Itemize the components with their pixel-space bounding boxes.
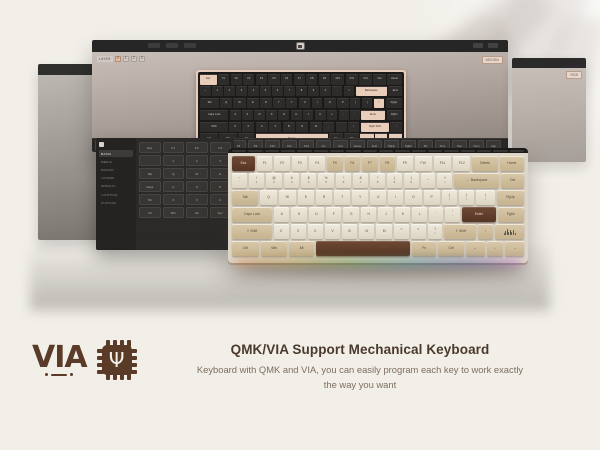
virtual-key-6[interactable]: 6 bbox=[272, 86, 283, 97]
key-legend: F7 bbox=[368, 162, 372, 166]
key-space[interactable]: ^6 bbox=[336, 173, 351, 188]
via-grid-key-caps[interactable]: Caps bbox=[139, 181, 161, 192]
virtual-key-i[interactable]: I bbox=[312, 98, 323, 109]
key-legend: Caps Lock bbox=[244, 213, 260, 217]
via-grid-key-z[interactable]: Z bbox=[163, 194, 185, 205]
via-sidebar-items: BASICMEDIAMACROLAYERSSPECIALLIGHTINGCUST… bbox=[99, 150, 133, 206]
virtual-key-esc[interactable]: Esc bbox=[200, 74, 217, 85]
keyboard-drop-shadow bbox=[238, 259, 518, 275]
via-grid-key-a[interactable]: A bbox=[163, 181, 185, 192]
main-window-badge: DESIGN bbox=[482, 56, 503, 64]
virtual-key-0[interactable]: 0 bbox=[320, 86, 331, 97]
qmk-psi-glyph: Ψ bbox=[109, 350, 125, 370]
key-f5[interactable]: F5 bbox=[327, 156, 343, 171]
key-shift[interactable]: ⇧ Shift bbox=[232, 224, 272, 239]
key-f2[interactable]: F2 bbox=[274, 156, 290, 171]
virtual-key-f2[interactable]: F2 bbox=[231, 74, 242, 85]
key-legend: G bbox=[350, 213, 353, 217]
key-legend: W bbox=[286, 196, 289, 200]
key-legend: ^6 bbox=[343, 177, 345, 185]
keyboard-top-strip bbox=[228, 148, 528, 153]
virtual-key-4[interactable]: 4 bbox=[248, 86, 259, 97]
via-grid-key-tab[interactable]: Tab bbox=[139, 168, 161, 179]
key-legend: F10 bbox=[420, 162, 426, 166]
layer-chip-3[interactable]: 3 bbox=[139, 56, 145, 62]
key-p[interactable]: P bbox=[424, 190, 440, 205]
via-sidebar-header bbox=[99, 142, 133, 147]
key-t[interactable]: T bbox=[334, 190, 350, 205]
key-legend: V bbox=[331, 230, 333, 234]
front-monitor: BASICMEDIAMACROLAYERSSPECIALLIGHTINGCUST… bbox=[96, 138, 234, 250]
virtual-key-b[interactable]: B bbox=[283, 122, 295, 133]
via-sidebar-item-special[interactable]: SPECIAL bbox=[99, 183, 133, 190]
via-grid-key-ctl[interactable]: Ctl bbox=[139, 207, 161, 218]
key-legend: }] bbox=[466, 194, 467, 202]
virtual-key-caps-lock[interactable]: Caps Lock bbox=[200, 110, 228, 121]
key-space[interactable]: |\ bbox=[476, 190, 495, 205]
layer-label: LAYER bbox=[97, 56, 113, 62]
key-legend: F2 bbox=[280, 162, 284, 166]
key-legend: A bbox=[281, 213, 283, 217]
key-legend: $4 bbox=[308, 177, 310, 185]
key-legend: D bbox=[315, 213, 317, 217]
key-legend: Q bbox=[267, 196, 270, 200]
virtual-key-pgdn[interactable]: PgDn bbox=[387, 110, 403, 121]
key-d[interactable]: D bbox=[309, 207, 324, 222]
key-f7[interactable]: F7 bbox=[362, 156, 378, 171]
key-ctrl[interactable]: Ctrl bbox=[232, 241, 259, 256]
key-ctrl[interactable]: Ctrl bbox=[438, 241, 464, 256]
app-window-icon bbox=[296, 42, 305, 50]
key-space[interactable]: %5 bbox=[318, 173, 334, 188]
key-legend: B bbox=[348, 230, 350, 234]
key-legend: F9 bbox=[403, 162, 407, 166]
key-esc[interactable]: Esc bbox=[232, 156, 255, 171]
key-legend: Delete bbox=[480, 162, 490, 166]
via-logo-text: VIA bbox=[32, 344, 87, 371]
key-space[interactable]: :; bbox=[429, 207, 443, 222]
virtual-key-1[interactable]: 1 bbox=[212, 86, 223, 97]
virtual-key-[interactable]: / bbox=[348, 122, 359, 133]
key-space[interactable]: += bbox=[437, 173, 452, 188]
via-grid-key-1[interactable]: 1 bbox=[163, 155, 185, 166]
key-a[interactable]: A bbox=[274, 207, 289, 222]
virtual-key-end[interactable]: End bbox=[388, 86, 402, 97]
virtual-key-right-shift[interactable]: Right Shift bbox=[361, 122, 389, 133]
key-legend: &7 bbox=[359, 177, 361, 185]
key-space[interactable]: → bbox=[505, 241, 524, 256]
key-legend: Esc bbox=[241, 162, 247, 166]
chip-body: Ψ bbox=[102, 345, 132, 375]
virtual-key-k[interactable]: K bbox=[315, 110, 326, 121]
key-legend: Del bbox=[510, 179, 515, 183]
virtual-keyboard-preview[interactable]: EscF1F2F3F4F5F6F7F8F9F10F11F12DelHome~12… bbox=[196, 70, 406, 148]
key-e[interactable]: E bbox=[298, 190, 314, 205]
key-legend: L bbox=[419, 213, 421, 217]
key-f8[interactable]: F8 bbox=[380, 156, 396, 171]
key-legend: F4 bbox=[315, 162, 319, 166]
main-monitor-screen: LAYER 0 1 2 3 DESIGN EscF1F2F3F4F5F6F7F8… bbox=[92, 52, 508, 152]
key-legend: F11 bbox=[440, 162, 446, 166]
via-sidebar-item-basic[interactable]: BASIC bbox=[99, 150, 133, 157]
caption-text: QMK/VIA Support Mechanical Keyboard Keyb… bbox=[140, 342, 580, 392]
key-legend: Home bbox=[507, 162, 516, 166]
main-monitor-titlebar bbox=[92, 40, 508, 52]
key-f4[interactable]: F4 bbox=[309, 156, 325, 171]
qmk-chip-icon: Ψ bbox=[97, 340, 137, 380]
key-x[interactable]: X bbox=[291, 224, 306, 239]
key-legend: Ctrl bbox=[449, 247, 454, 251]
via-grid-key-x[interactable]: X bbox=[186, 194, 208, 205]
virtual-key-e[interactable]: E bbox=[247, 98, 259, 109]
via-grid-key-alt[interactable]: Alt bbox=[186, 207, 208, 218]
via-sidebar-item-layers[interactable]: LAYERS bbox=[99, 175, 133, 182]
virtual-key-9[interactable]: 9 bbox=[308, 86, 319, 97]
key-legend: %5 bbox=[325, 177, 328, 185]
key-enter[interactable]: Enter bbox=[462, 207, 496, 222]
key-space[interactable]: <, bbox=[394, 224, 409, 239]
virtual-key-[interactable]: ; bbox=[339, 110, 349, 121]
key-space[interactable]: }] bbox=[459, 190, 474, 205]
virtual-key-j[interactable]: J bbox=[303, 110, 313, 121]
key-legend: M bbox=[383, 230, 386, 234]
virtual-key-[interactable]: . bbox=[336, 122, 347, 133]
virtual-key-[interactable]: [ bbox=[350, 98, 361, 109]
virtual-key-[interactable]: - bbox=[332, 86, 342, 97]
virtual-key-[interactable]: \ bbox=[374, 98, 385, 109]
layer-selector[interactable]: LAYER 0 1 2 3 bbox=[97, 56, 145, 62]
virtual-key-backspace[interactable]: Backspace bbox=[356, 86, 387, 97]
key-pgup[interactable]: PgUp bbox=[497, 190, 524, 205]
virtual-key-shift[interactable]: Shift bbox=[200, 122, 228, 133]
virtual-keyboard-row: ~1234567890-=BackspaceEnd bbox=[200, 86, 402, 97]
key-space[interactable]: {[ bbox=[442, 190, 457, 205]
key-win[interactable]: Win bbox=[261, 241, 287, 256]
virtual-key-s[interactable]: S bbox=[242, 110, 253, 121]
key-legend: F8 bbox=[385, 162, 389, 166]
key-legend: {[ bbox=[449, 194, 450, 202]
logo-group: VIA Ψ bbox=[32, 340, 137, 380]
titlebar-menu-items bbox=[148, 43, 196, 48]
key-n[interactable]: N bbox=[359, 224, 374, 239]
key-legend: ⇧ Shift bbox=[455, 230, 466, 234]
key-legend: ← Backspace bbox=[466, 179, 487, 183]
via-grid-key-2[interactable]: 2 bbox=[186, 155, 208, 166]
key-legend: ⇧ Shift bbox=[247, 230, 258, 234]
virtual-key-f[interactable]: F bbox=[266, 110, 277, 121]
key-legend: O bbox=[412, 196, 415, 200]
key-r[interactable]: R bbox=[316, 190, 332, 205]
keyboard-row: ⇧ ShiftZXCVBNM<,>.?/⇧ Shift↑ bbox=[232, 224, 524, 239]
key-f6[interactable]: F6 bbox=[345, 156, 361, 171]
key-k[interactable]: K bbox=[395, 207, 410, 222]
key-space[interactable]: !1 bbox=[249, 173, 264, 188]
keyboard-row: Caps LockASDFGHJKL:;"'EnterPgDn bbox=[232, 207, 524, 222]
key-legend: PgDn bbox=[507, 213, 515, 217]
virtual-key-f6[interactable]: F6 bbox=[281, 74, 292, 85]
key-legend: F12 bbox=[459, 162, 465, 166]
key-f10[interactable]: F10 bbox=[415, 156, 432, 171]
via-key-grid[interactable]: EscF1F2F3`123TabQWECapsASDSftZXCCtlWinAl… bbox=[136, 138, 234, 250]
key-caps-lock[interactable]: Caps Lock bbox=[232, 207, 272, 222]
key-legend: _- bbox=[427, 177, 429, 185]
virtual-key-t[interactable]: T bbox=[273, 98, 284, 109]
key-u[interactable]: U bbox=[370, 190, 386, 205]
key-wave[interactable] bbox=[495, 224, 524, 239]
via-grid-key-q[interactable]: Q bbox=[163, 168, 185, 179]
via-grid-key-w[interactable]: W bbox=[186, 168, 208, 179]
key-shift[interactable]: ⇧ Shift bbox=[444, 224, 476, 239]
key-home[interactable]: Home bbox=[500, 156, 524, 171]
key-legend: += bbox=[444, 177, 446, 185]
caption-subtitle: Keyboard with QMK and VIA, you can easil… bbox=[195, 363, 525, 392]
virtual-key-c[interactable]: C bbox=[256, 122, 268, 133]
key-f9[interactable]: F9 bbox=[397, 156, 413, 171]
virtual-key-[interactable]: , bbox=[323, 122, 334, 133]
key-tab[interactable]: Tab bbox=[232, 190, 258, 205]
virtual-key-f11[interactable]: F11 bbox=[346, 74, 358, 85]
key-legend: Tab bbox=[242, 196, 247, 200]
keyboard-row: TabQWERTYUIOP{[}]|\PgUp bbox=[232, 190, 524, 205]
via-sidebar-item-lighting[interactable]: LIGHTING bbox=[99, 191, 133, 198]
key-legend: (9 bbox=[394, 177, 396, 185]
caption-block: VIA Ψ QMK/VIA Support Mechanical Keyboar… bbox=[0, 330, 600, 450]
keyboard-row: ~`!1@2#3$4%5^6&7*8(9)0_-+=← BackspaceDel bbox=[232, 173, 524, 188]
key-l[interactable]: L bbox=[412, 207, 427, 222]
virtual-key-5[interactable]: 5 bbox=[260, 86, 271, 97]
via-logo-underline bbox=[45, 373, 73, 376]
key-legend: @2 bbox=[272, 177, 275, 185]
key-legend: J bbox=[385, 213, 387, 217]
virtual-key-[interactable]: ~ bbox=[200, 86, 211, 97]
virtual-key-h[interactable]: H bbox=[291, 110, 302, 121]
via-grid-key-sft[interactable]: Sft bbox=[139, 194, 161, 205]
caption-title: QMK/VIA Support Mechanical Keyboard bbox=[140, 342, 580, 357]
keyboard-row: CtrlWinAltFnCtrl←↓→ bbox=[232, 241, 524, 256]
sound-wave-icon bbox=[504, 229, 516, 235]
virtual-key-f8[interactable]: F8 bbox=[306, 74, 317, 85]
layer-chip-0[interactable]: 0 bbox=[115, 56, 121, 62]
virtual-key-[interactable]: = bbox=[344, 86, 355, 97]
key-space[interactable]: ~` bbox=[232, 173, 247, 188]
virtual-key-f9[interactable]: F9 bbox=[319, 74, 330, 85]
key-f3[interactable]: F3 bbox=[292, 156, 308, 171]
key-legend: N bbox=[366, 230, 368, 234]
key-m[interactable]: M bbox=[376, 224, 392, 239]
key-legend: ↓ bbox=[494, 247, 496, 251]
key-legend: R bbox=[323, 196, 325, 200]
key-delete[interactable]: Delete bbox=[472, 156, 497, 171]
key-o[interactable]: O bbox=[405, 190, 421, 205]
key-del[interactable]: Del bbox=[501, 173, 524, 188]
via-sidebar-item-custom[interactable]: CUSTOM bbox=[99, 199, 133, 206]
layer-chip-2[interactable]: 2 bbox=[131, 56, 137, 62]
key-legend: Y bbox=[359, 196, 361, 200]
key-legend: !1 bbox=[256, 177, 258, 185]
via-grid-key--[interactable]: ` bbox=[139, 155, 161, 166]
virtual-keyboard-row: Caps LockASDFGHJKL;'EnterPgDn bbox=[200, 110, 402, 121]
key-q[interactable]: Q bbox=[260, 190, 276, 205]
key-z[interactable]: Z bbox=[274, 224, 289, 239]
key-legend: #3 bbox=[291, 177, 293, 185]
key-alt[interactable]: Alt bbox=[289, 241, 313, 256]
virtual-key-f4[interactable]: F4 bbox=[256, 74, 267, 85]
key-w[interactable]: W bbox=[279, 190, 296, 205]
key-legend: F3 bbox=[298, 162, 302, 166]
key-space[interactable]: >. bbox=[411, 224, 426, 239]
key-v[interactable]: V bbox=[325, 224, 340, 239]
key-space[interactable]: )0 bbox=[404, 173, 419, 188]
virtual-key-f12[interactable]: F12 bbox=[359, 74, 372, 85]
virtual-key-m[interactable]: M bbox=[310, 122, 322, 133]
virtual-key-tab[interactable]: Tab bbox=[200, 98, 219, 109]
titlebar-window-controls[interactable] bbox=[473, 43, 498, 48]
key-i[interactable]: I bbox=[388, 190, 403, 205]
key-space[interactable]: (9 bbox=[387, 173, 402, 188]
key-legend: → bbox=[513, 247, 516, 251]
key-space[interactable]: &7 bbox=[353, 173, 368, 188]
virtual-key-y[interactable]: Y bbox=[286, 98, 298, 109]
key-legend: |\ bbox=[485, 194, 486, 202]
via-grid-key-esc[interactable]: Esc bbox=[139, 142, 161, 153]
key-space[interactable] bbox=[316, 241, 410, 256]
key-legend: F1 bbox=[263, 162, 267, 166]
key-space[interactable]: @2 bbox=[266, 173, 282, 188]
virtual-key-[interactable]: ' bbox=[350, 110, 360, 121]
mechanical-keyboard[interactable]: EscF1F2F3F4F5F6F7F8F9F10F11F12DeleteHome… bbox=[228, 148, 528, 263]
key-pgdn[interactable]: PgDn bbox=[498, 207, 524, 222]
key-legend: Z bbox=[280, 230, 282, 234]
main-monitor: LAYER 0 1 2 3 DESIGN EscF1F2F3F4F5F6F7F8… bbox=[92, 40, 508, 152]
key-space[interactable]: ↑ bbox=[478, 224, 493, 239]
key-space[interactable]: ?/ bbox=[428, 224, 443, 239]
key-legend: ?/ bbox=[434, 228, 436, 236]
key-space[interactable]: ↓ bbox=[487, 241, 504, 256]
key-legend: H bbox=[367, 213, 369, 217]
key-legend: X bbox=[297, 230, 299, 234]
via-grid-key-win[interactable]: Win bbox=[163, 207, 185, 218]
key-h[interactable]: H bbox=[361, 207, 376, 222]
key-legend: U bbox=[377, 196, 379, 200]
virtual-key-3[interactable]: 3 bbox=[236, 86, 247, 97]
key-s[interactable]: S bbox=[291, 207, 306, 222]
virtual-key-g[interactable]: G bbox=[278, 110, 289, 121]
keyboard-rows: EscF1F2F3F4F5F6F7F8F9F10F11F12DeleteHome… bbox=[232, 156, 524, 256]
virtual-key-u[interactable]: U bbox=[299, 98, 311, 109]
key-fn[interactable]: Fn bbox=[412, 241, 436, 256]
right-window-badge: RGB bbox=[566, 71, 582, 79]
via-sidebar-item-macro[interactable]: MACRO bbox=[99, 166, 133, 173]
key-space[interactable]: ← bbox=[466, 241, 485, 256]
key-legend: )0 bbox=[410, 177, 412, 185]
virtual-keyboard-rows: EscF1F2F3F4F5F6F7F8F9F10F11F12DelHome~12… bbox=[198, 72, 404, 146]
key-legend: F5 bbox=[333, 162, 337, 166]
key-legend: S bbox=[298, 213, 300, 217]
via-sidebar-item-media[interactable]: MEDIA bbox=[99, 158, 133, 165]
virtual-keyboard-row: ShiftZXCVBNM,./Right Shift↑ bbox=[200, 122, 402, 133]
virtual-key-f5[interactable]: F5 bbox=[268, 74, 279, 85]
virtual-key-7[interactable]: 7 bbox=[284, 86, 295, 97]
key-space[interactable]: $4 bbox=[301, 173, 316, 188]
key-f[interactable]: F bbox=[326, 207, 341, 222]
key-c[interactable]: C bbox=[308, 224, 323, 239]
key-space[interactable]: #3 bbox=[284, 173, 299, 188]
key-legend: C bbox=[314, 230, 316, 234]
via-logo-icon bbox=[99, 142, 104, 147]
virtual-key-[interactable]: ↑ bbox=[390, 122, 402, 133]
via-sidebar[interactable]: BASICMEDIAMACROLAYERSSPECIALLIGHTINGCUST… bbox=[96, 138, 136, 250]
via-grid-key-f1[interactable]: F1 bbox=[163, 142, 185, 153]
key-f11[interactable]: F11 bbox=[434, 156, 451, 171]
via-grid-key-f2[interactable]: F2 bbox=[186, 142, 208, 153]
virtual-key-f10[interactable]: F10 bbox=[331, 74, 344, 85]
key-f12[interactable]: F12 bbox=[453, 156, 470, 171]
virtual-key-f7[interactable]: F7 bbox=[294, 74, 305, 85]
key-legend: I bbox=[395, 196, 396, 200]
virtual-key-q[interactable]: Q bbox=[220, 98, 232, 109]
virtual-key-l[interactable]: L bbox=[327, 110, 337, 121]
key-legend: >. bbox=[417, 228, 419, 236]
key-legend: Enter bbox=[475, 213, 483, 217]
key-j[interactable]: J bbox=[378, 207, 393, 222]
virtual-key-a[interactable]: A bbox=[230, 110, 241, 121]
virtual-key-2[interactable]: 2 bbox=[224, 86, 235, 97]
virtual-key-p[interactable]: P bbox=[337, 98, 349, 109]
key-space[interactable]: "' bbox=[445, 207, 459, 222]
right-monitor-titlebar bbox=[512, 58, 586, 68]
key-legend: PgUp bbox=[506, 196, 514, 200]
keyboard-row: EscF1F2F3F4F5F6F7F8F9F10F11F12DeleteHome bbox=[232, 156, 524, 171]
key-legend: Fn bbox=[422, 247, 426, 251]
key-y[interactable]: Y bbox=[352, 190, 368, 205]
virtual-key-d[interactable]: D bbox=[254, 110, 265, 121]
key-f1[interactable]: F1 bbox=[257, 156, 273, 171]
virtual-key-del[interactable]: Del bbox=[373, 74, 385, 85]
key-b[interactable]: B bbox=[342, 224, 357, 239]
virtual-key-f3[interactable]: F3 bbox=[243, 74, 254, 85]
virtual-key-o[interactable]: O bbox=[324, 98, 336, 109]
key-backspace[interactable]: ← Backspace bbox=[454, 173, 499, 188]
virtual-key-pgup[interactable]: PgUp bbox=[386, 98, 402, 109]
virtual-key-r[interactable]: R bbox=[260, 98, 272, 109]
virtual-key-8[interactable]: 8 bbox=[296, 86, 307, 97]
via-logo: VIA bbox=[32, 344, 87, 376]
virtual-key-z[interactable]: Z bbox=[229, 122, 241, 133]
key-legend: P bbox=[431, 196, 433, 200]
virtual-key-v[interactable]: V bbox=[269, 122, 281, 133]
key-legend: Ctrl bbox=[243, 247, 248, 251]
virtual-key-w[interactable]: W bbox=[233, 98, 245, 109]
key-space[interactable]: *8 bbox=[370, 173, 385, 188]
virtual-key-[interactable]: ] bbox=[362, 98, 373, 109]
key-legend: *8 bbox=[377, 177, 379, 185]
key-space[interactable]: _- bbox=[421, 173, 436, 188]
key-legend: :; bbox=[436, 211, 437, 219]
virtual-keyboard-row: TabQWERTYUIOP[]\PgUp bbox=[200, 98, 402, 109]
layer-chip-1[interactable]: 1 bbox=[123, 56, 129, 62]
key-legend: K bbox=[402, 213, 404, 217]
key-legend: ← bbox=[474, 247, 477, 251]
key-legend: <, bbox=[400, 228, 402, 236]
key-legend: Win bbox=[271, 247, 277, 251]
virtual-key-enter[interactable]: Enter bbox=[361, 110, 385, 121]
via-grid-key-s[interactable]: S bbox=[186, 181, 208, 192]
key-g[interactable]: G bbox=[343, 207, 359, 222]
virtual-key-f1[interactable]: F1 bbox=[218, 74, 229, 85]
virtual-key-x[interactable]: X bbox=[242, 122, 254, 133]
virtual-key-n[interactable]: N bbox=[296, 122, 308, 133]
virtual-key-home[interactable]: Home bbox=[387, 74, 402, 85]
